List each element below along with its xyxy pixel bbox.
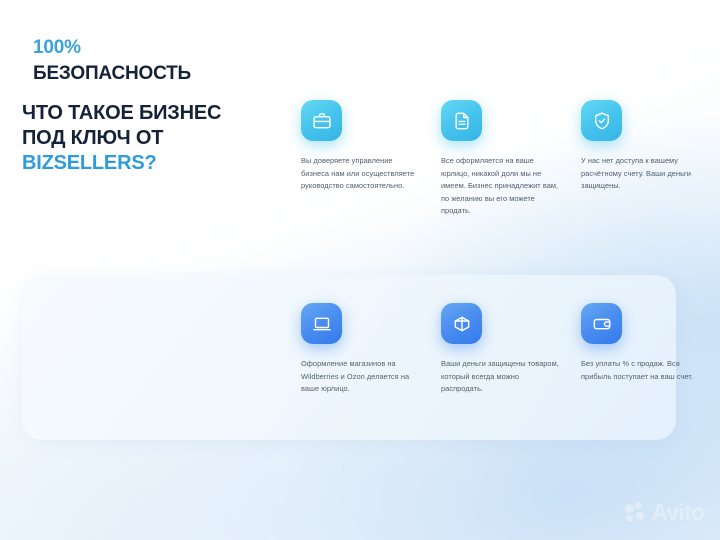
feature-card: Ваши деньги защищены товаром, который вс… — [441, 303, 561, 396]
avito-wordmark: Avito — [651, 501, 704, 524]
wallet-icon — [581, 303, 622, 344]
feature-card-text: Ваши деньги защищены товаром, который вс… — [441, 358, 561, 396]
top-feature-card-list: Вы доверяете управление бизнеса нам или … — [301, 100, 701, 218]
feature-card-text: Вы доверяете управление бизнеса нам или … — [301, 155, 421, 193]
feature-card-text: Оформление магазинов на Wildberries и Oz… — [301, 358, 421, 396]
feature-card-text: Без уплаты % с продаж. Вся прибыль посту… — [581, 358, 701, 383]
feature-card: Оформление магазинов на Wildberries и Oz… — [301, 303, 421, 396]
safety-percent: 100% — [33, 37, 81, 58]
box-icon — [441, 303, 482, 344]
headline-line-1: ЧТО ТАКОЕ БИЗНЕС — [22, 102, 221, 124]
briefcase-icon — [301, 100, 342, 141]
laptop-icon — [301, 303, 342, 344]
safety-word: БЕЗОПАСНОСТЬ — [33, 63, 191, 84]
avito-logo-icon — [625, 502, 646, 523]
headline-brand: BIZSELLERS? — [22, 152, 156, 174]
avito-watermark: Avito — [625, 501, 704, 524]
feature-card: Без уплаты % с продаж. Вся прибыль посту… — [581, 303, 701, 396]
safety-feature-card-list: Оформление магазинов на Wildberries и Oz… — [301, 303, 701, 396]
shield-check-icon — [581, 100, 622, 141]
document-icon — [441, 100, 482, 141]
page-background: ЧТО ТАКОЕ БИЗНЕС ПОД КЛЮЧ ОТ BIZSELLERS?… — [0, 0, 720, 540]
headline-line-2: ПОД КЛЮЧ ОТ — [22, 127, 163, 149]
feature-card: У нас нет доступа к вашему расчётному сч… — [581, 100, 701, 218]
page-title: ЧТО ТАКОЕ БИЗНЕС ПОД КЛЮЧ ОТ BIZSELLERS? — [22, 101, 272, 176]
feature-card: Все оформляется на ваше юрлицо, никакой … — [441, 100, 561, 218]
feature-card-text: У нас нет доступа к вашему расчётному сч… — [581, 155, 701, 193]
safety-title: 100% БЕЗОПАСНОСТЬ — [33, 35, 253, 87]
feature-card-text: Все оформляется на ваше юрлицо, никакой … — [441, 155, 561, 218]
feature-card: Вы доверяете управление бизнеса нам или … — [301, 100, 421, 218]
